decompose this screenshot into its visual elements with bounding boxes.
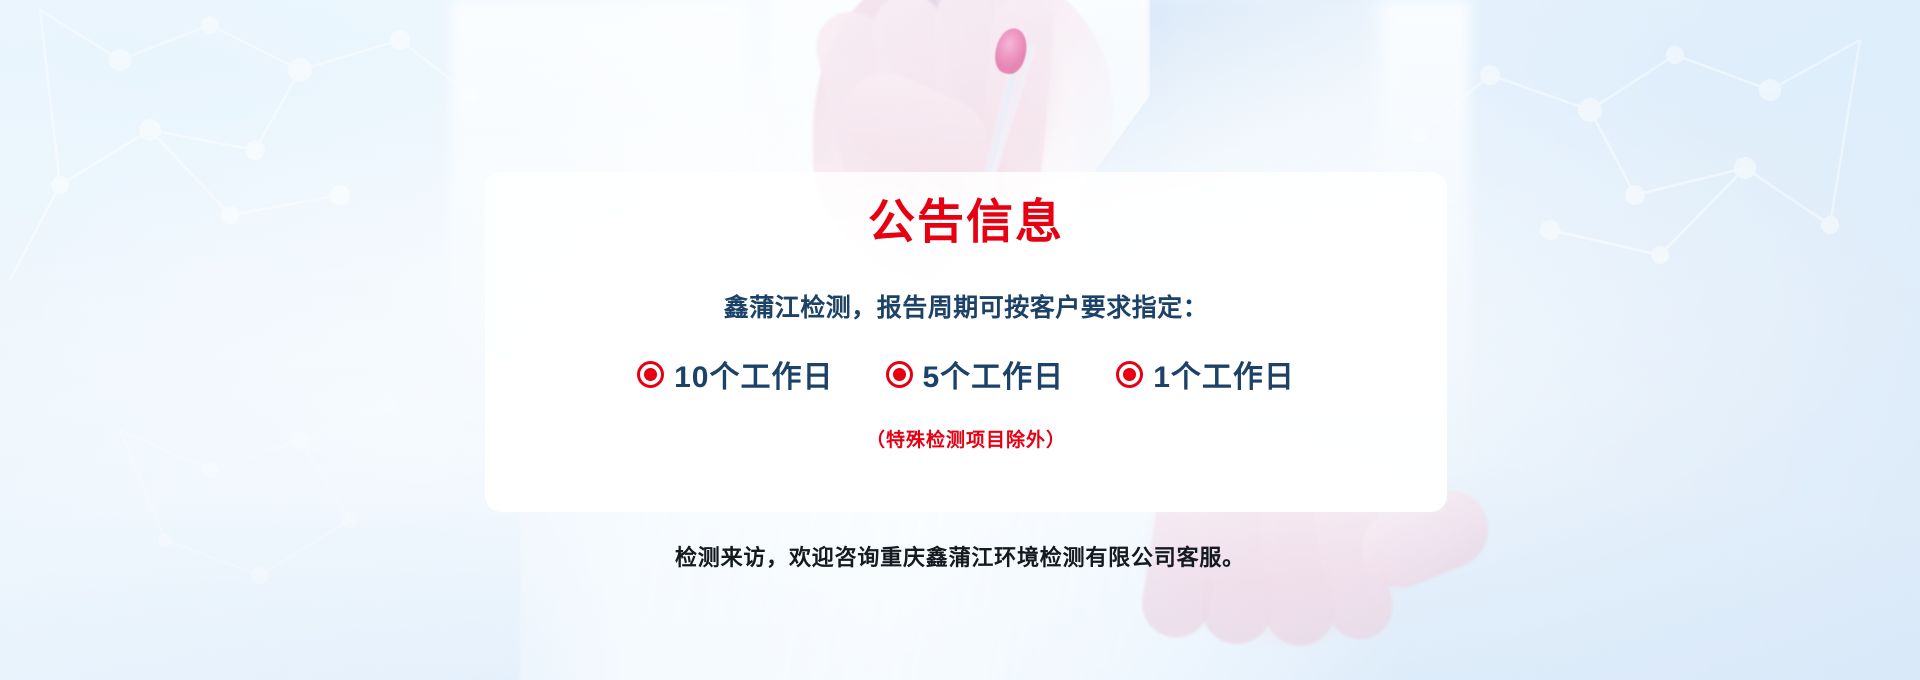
radio-filled-icon bbox=[886, 361, 913, 388]
footer-contact-text: 检测来访，欢迎咨询重庆鑫蒲江环境检测有限公司客服。 bbox=[0, 540, 1920, 572]
option-item[interactable]: 10个工作日 bbox=[637, 352, 833, 396]
radio-filled-icon bbox=[637, 361, 664, 388]
turnaround-options: 10个工作日 5个工作日 1个工作日 bbox=[485, 352, 1447, 396]
announcement-card-lower bbox=[485, 400, 1447, 512]
option-item[interactable]: 5个工作日 bbox=[886, 352, 1065, 396]
option-label: 5个工作日 bbox=[923, 352, 1065, 396]
option-label: 1个工作日 bbox=[1153, 352, 1295, 396]
exception-note: （特殊检测项目除外） bbox=[485, 425, 1447, 452]
announcement-card: 公告信息 鑫蒲江检测，报告周期可按客户要求指定： 10个工作日 5个工作日 1个… bbox=[485, 172, 1447, 412]
option-label: 10个工作日 bbox=[674, 352, 833, 396]
page-title: 公告信息 bbox=[485, 198, 1447, 245]
announcement-banner: 公告信息 鑫蒲江检测，报告周期可按客户要求指定： 10个工作日 5个工作日 1个… bbox=[0, 0, 1920, 680]
announcement-subtitle: 鑫蒲江检测，报告周期可按客户要求指定： bbox=[485, 296, 1447, 321]
radio-filled-icon bbox=[1116, 361, 1143, 388]
option-item[interactable]: 1个工作日 bbox=[1116, 352, 1295, 396]
